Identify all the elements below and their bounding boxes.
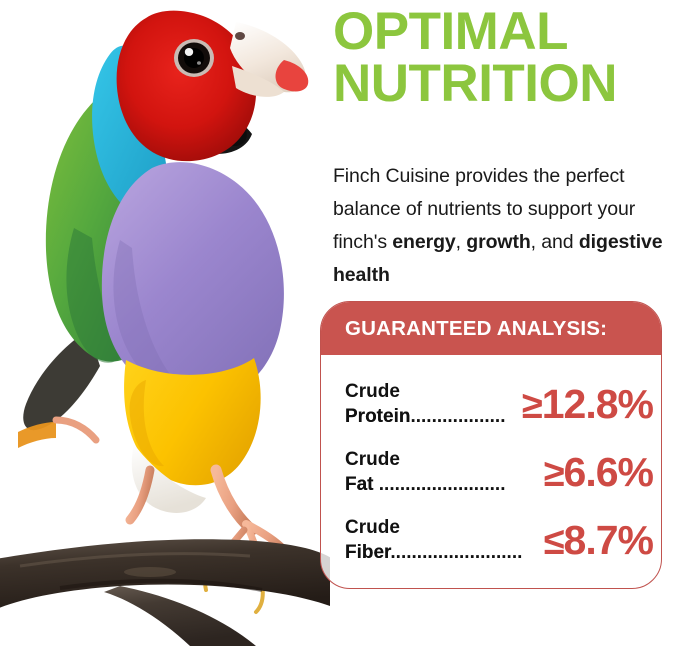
analysis-value: ≤8.7% (544, 513, 653, 569)
page-title: OPTIMAL NUTRITION (333, 6, 679, 110)
analysis-operator: ≥ (544, 453, 564, 495)
finch-photo (0, 0, 330, 646)
analysis-value: ≥12.8% (522, 377, 653, 433)
analysis-label: Crude Fiber (345, 515, 400, 565)
analysis-operator: ≥ (522, 385, 542, 427)
analysis-value: ≥6.6% (544, 445, 653, 501)
body-text: , (456, 231, 467, 253)
analysis-label: Crude Protein (345, 379, 410, 429)
marketing-image: OPTIMAL NUTRITION Finch Cuisine provides… (0, 0, 679, 646)
body-text: , and (531, 231, 579, 253)
analysis-operator: ≤ (544, 521, 564, 563)
analysis-row: Fat ........................Crude Fat≥6.… (321, 447, 661, 515)
guaranteed-analysis-title: GUARANTEED ANALYSIS: (345, 317, 607, 341)
guaranteed-analysis-rows: Protein..................Crude Protein≥1… (321, 355, 661, 583)
analysis-row: Protein..................Crude Protein≥1… (321, 379, 661, 447)
guaranteed-analysis-header: GUARANTEED ANALYSIS: (321, 302, 661, 355)
guaranteed-analysis-card: GUARANTEED ANALYSIS: Protein............… (320, 301, 662, 589)
body-emphasis: energy (392, 231, 455, 253)
body-emphasis: growth (466, 231, 530, 253)
content-column: OPTIMAL NUTRITION Finch Cuisine provides… (325, 0, 679, 646)
body-copy: Finch Cuisine provides the perfect balan… (333, 160, 679, 292)
finch-nostril (235, 32, 245, 40)
analysis-row: Fiber.........................Crude Fibe… (321, 515, 661, 583)
analysis-label: Crude Fat (345, 447, 400, 497)
